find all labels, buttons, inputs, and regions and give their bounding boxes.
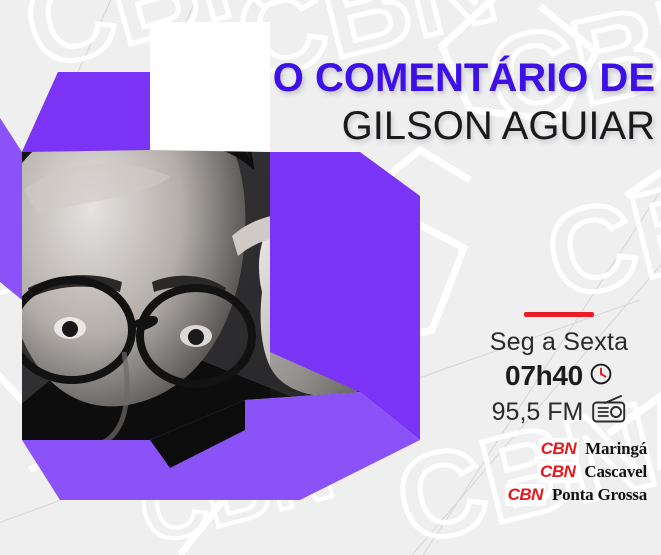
radio-icon <box>592 395 626 428</box>
cube-right-face-outer <box>360 152 420 440</box>
cube-right-face <box>270 152 360 392</box>
headline-line-2: GILSON AGUIAR <box>273 102 655 150</box>
list-item: CBN Ponta Grossa <box>505 484 647 506</box>
headline-line-1: O COMENTÁRIO DE <box>273 54 655 102</box>
broadcast-time: 07h40 <box>505 359 583 393</box>
cbn-logo: CBN <box>538 438 579 460</box>
cube-inner-edge <box>150 22 270 152</box>
station-list: CBN Maringá CBN Cascavel CBN Ponta Gross… <box>469 438 649 506</box>
station-city: Maringá <box>585 439 647 459</box>
promo-banner: .wm{ font-family:"Liberation Sans", sans… <box>0 0 661 555</box>
cbn-logo: CBN <box>505 484 546 506</box>
station-city: Ponta Grossa <box>552 485 647 505</box>
schedule-info-panel: Seg a Sexta 07h40 95,5 FM <box>469 312 649 506</box>
frequency-row: 95,5 FM <box>469 395 649 428</box>
station-city: Cascavel <box>584 462 647 482</box>
broadcast-days: Seg a Sexta <box>469 327 649 357</box>
cube-left-face-lower <box>0 118 22 300</box>
red-divider <box>524 312 594 317</box>
frequency-label: 95,5 FM <box>492 396 584 428</box>
headline-block: O COMENTÁRIO DE GILSON AGUIAR <box>273 54 655 150</box>
list-item: CBN Cascavel <box>537 461 647 483</box>
clock-icon <box>589 362 613 391</box>
cbn-logo: CBN <box>537 461 578 483</box>
list-item: CBN Maringá <box>538 438 647 460</box>
broadcast-time-row: 07h40 <box>469 359 649 393</box>
